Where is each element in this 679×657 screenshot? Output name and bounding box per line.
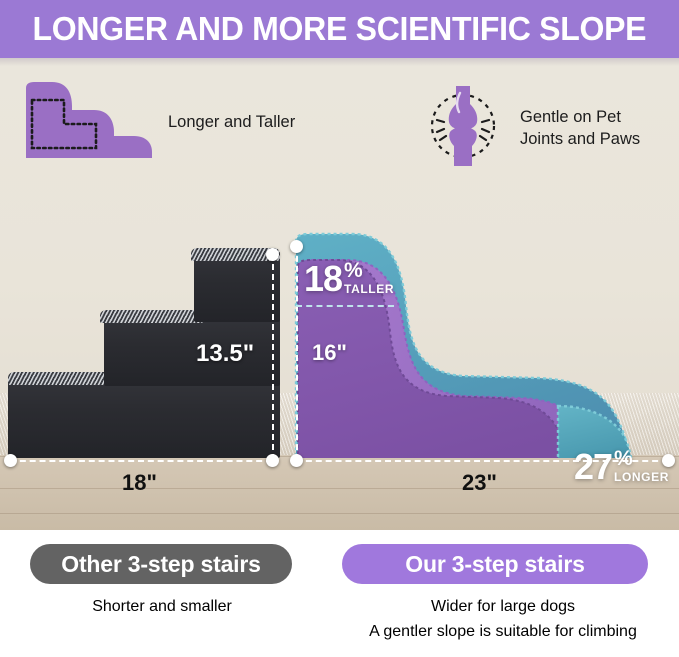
other-caption-1: Shorter and smaller — [12, 598, 312, 616]
product-scene: Longer and Taller Gentle on Pet Joints a… — [0, 58, 679, 530]
feature-label-line2: Joints and Paws — [520, 130, 640, 148]
compare-section: Other 3-step stairs Our 3-step stairs Sh… — [0, 530, 679, 657]
taller-badge-number: 18 — [304, 262, 342, 295]
longer-badge: 27 % LONGER — [574, 450, 669, 484]
ramp-height-label: 16" — [312, 340, 347, 366]
floor-plank-line — [0, 488, 679, 489]
stairs-height-label: 13.5" — [196, 340, 254, 368]
our-caption-1: Wider for large dogs — [338, 598, 668, 616]
stair-step-top — [194, 252, 280, 322]
ramp-height-line — [296, 246, 298, 460]
taller-badge-percent-sign: % — [344, 262, 394, 281]
stair-tread-bottom — [8, 372, 113, 385]
floor-plank-line — [0, 513, 679, 514]
infographic-page: LONGER AND MORE SCIENTIFIC SLOPE Longer … — [0, 0, 679, 657]
our-caption-2: A gentler slope is suitable for climbing — [338, 623, 668, 641]
taller-badge-word: TALLER — [344, 282, 394, 296]
feature-longer-taller: Longer and Taller — [22, 80, 295, 165]
other-stairs-pill: Other 3-step stairs — [30, 544, 292, 584]
stairs-width-dot-left — [4, 454, 17, 467]
stairs-width-label: 18" — [122, 470, 157, 496]
ramp-width-line — [296, 460, 668, 462]
stairs-height-line — [272, 254, 274, 460]
taller-reference-line — [296, 305, 394, 307]
longer-badge-word: LONGER — [614, 470, 669, 484]
joint-icon — [420, 80, 506, 177]
stairs-icon — [22, 80, 154, 165]
our-stairs-pill: Our 3-step stairs — [342, 544, 648, 584]
taller-badge: 18 % TALLER — [304, 262, 394, 296]
ramp-width-dot-right — [662, 454, 675, 467]
longer-badge-number: 27 — [574, 450, 612, 483]
our-ramp-product — [286, 178, 679, 458]
our-captions: Wider for large dogs A gentler slope is … — [338, 598, 668, 648]
ramp-width-label: 23" — [462, 470, 497, 496]
ramp-height-dot-top — [290, 240, 303, 253]
other-captions: Shorter and smaller — [12, 598, 312, 623]
stair-tread-middle — [100, 310, 203, 323]
feature-label: Longer and Taller — [168, 112, 295, 133]
feature-label-line1: Gentle on Pet — [520, 108, 621, 126]
header-banner: LONGER AND MORE SCIENTIFIC SLOPE — [0, 0, 679, 58]
stairs-width-line — [10, 460, 272, 462]
wall-top-shadow — [0, 58, 679, 66]
feature-gentle-joints: Gentle on Pet Joints and Paws — [420, 80, 640, 177]
stairs-height-dot-top — [266, 248, 279, 261]
page-title: LONGER AND MORE SCIENTIFIC SLOPE — [33, 10, 647, 48]
stair-step-bottom — [8, 378, 280, 458]
feature-label: Gentle on Pet Joints and Paws — [520, 107, 640, 149]
